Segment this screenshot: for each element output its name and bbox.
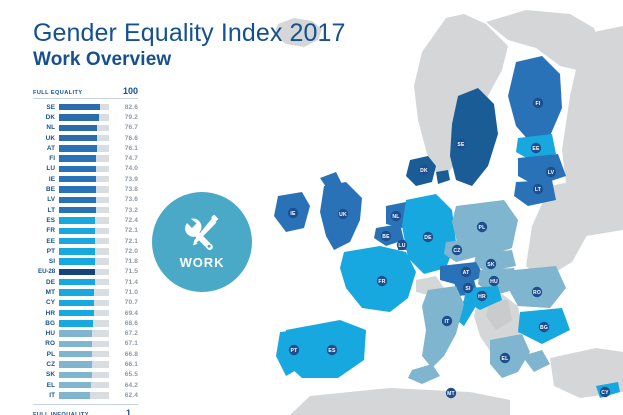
bar-fill <box>59 238 95 244</box>
bar-track <box>59 300 109 306</box>
bar-track <box>59 228 109 234</box>
bar-track <box>59 166 109 172</box>
bar-value: 73.6 <box>109 196 138 203</box>
map-country-code: CY <box>601 390 609 396</box>
bar-value: 73.2 <box>109 207 138 214</box>
bar-track <box>59 217 109 223</box>
map-country-code: EE <box>532 146 540 152</box>
bar-fill <box>59 351 92 357</box>
bar-track <box>59 248 109 254</box>
bar-track <box>59 186 109 192</box>
bar-value: 70.7 <box>109 299 138 306</box>
bar-track <box>59 135 109 141</box>
bar-value: 71.4 <box>109 279 138 286</box>
map-country-code: IT <box>445 319 451 325</box>
bar-fill <box>59 341 92 347</box>
bar-row[interactable]: IE73.9 <box>33 174 138 184</box>
bar-row[interactable]: SE82.6 <box>33 102 138 112</box>
map-country-code: UK <box>339 212 347 218</box>
map-country-code: AT <box>463 270 471 276</box>
bar-fill <box>59 258 95 264</box>
bar-value: 65.5 <box>109 371 138 378</box>
bar-track <box>59 104 109 110</box>
bar-fill <box>59 330 92 336</box>
bar-country-code: PL <box>33 351 59 358</box>
bar-country-code: BE <box>33 186 59 193</box>
bar-row[interactable]: LU74.0 <box>33 164 138 174</box>
bar-value: 72.0 <box>109 248 138 255</box>
bar-row[interactable]: EE72.1 <box>33 236 138 246</box>
bar-value: 72.1 <box>109 238 138 245</box>
map-country-code: ES <box>328 348 336 354</box>
bar-track <box>59 258 109 264</box>
bar-value: 71.5 <box>109 268 138 275</box>
bar-row[interactable]: HR69.4 <box>33 308 138 318</box>
bar-row[interactable]: DE71.4 <box>33 277 138 287</box>
bar-row[interactable]: HU67.2 <box>33 329 138 339</box>
bar-value: 62.4 <box>109 392 138 399</box>
bar-country-code: EE <box>33 238 59 245</box>
bar-fill <box>59 197 96 203</box>
bar-fill <box>59 207 95 213</box>
bar-track <box>59 392 109 398</box>
bar-value: 79.2 <box>109 114 138 121</box>
bar-country-code: ES <box>33 217 59 224</box>
legend-full-equality: FULL EQUALITY 100 <box>33 86 138 99</box>
bar-country-code: HR <box>33 310 59 317</box>
bar-value: 76.7 <box>109 124 138 131</box>
bar-fill <box>59 155 96 161</box>
bar-row[interactable]: FR72.1 <box>33 226 138 236</box>
bar-value: 71.8 <box>109 258 138 265</box>
work-badge-label: WORK <box>180 255 225 270</box>
bar-country-code: SI <box>33 258 59 265</box>
title-main: Gender Equality Index 2017 <box>33 20 346 47</box>
bar-fill <box>59 186 96 192</box>
bar-track <box>59 289 109 295</box>
map-country-code: NL <box>392 214 399 220</box>
bar-fill <box>59 269 95 275</box>
map-country-code: SE <box>457 142 465 148</box>
bar-track <box>59 351 109 357</box>
bar-row[interactable]: PL66.8 <box>33 349 138 359</box>
map-country-code: HU <box>490 279 498 285</box>
map-country-code: SK <box>487 262 495 268</box>
bar-track <box>59 114 109 120</box>
bar-country-code: IT <box>33 392 59 399</box>
bar-row[interactable]: LV73.6 <box>33 195 138 205</box>
bar-track <box>59 382 109 388</box>
infographic-root: IEUKFRPTESNLBELUDEDKSEFIEELVLTPLCZSKATHU… <box>0 0 623 415</box>
legend-full-inequality: FULL INEQUALITY 1 <box>33 404 138 415</box>
bar-fill <box>59 176 96 182</box>
bar-value: 76.6 <box>109 135 138 142</box>
bar-value: 72.1 <box>109 227 138 234</box>
map-country-code: BE <box>382 234 390 240</box>
map-country-code: EL <box>502 356 509 362</box>
page-title: Gender Equality Index 2017 Work Overview <box>33 20 346 70</box>
bar-row[interactable]: AT76.1 <box>33 143 138 153</box>
bar-row[interactable]: EU-2871.5 <box>33 267 138 277</box>
bar-country-code: IE <box>33 176 59 183</box>
bar-country-code: SE <box>33 104 59 111</box>
bar-value: 68.6 <box>109 320 138 327</box>
bar-track <box>59 238 109 244</box>
bar-fill <box>59 248 95 254</box>
bar-row[interactable]: FI74.7 <box>33 153 138 163</box>
map-country-code: LV <box>548 170 555 176</box>
bar-value: 72.4 <box>109 217 138 224</box>
bar-country-code: NL <box>33 124 59 131</box>
legend-full-inequality-value: 1 <box>126 408 138 415</box>
bar-fill <box>59 114 98 120</box>
bar-country-code: LU <box>33 165 59 172</box>
bar-country-code: CY <box>33 299 59 306</box>
bar-country-code: PT <box>33 248 59 255</box>
bar-track <box>59 341 109 347</box>
map-country-code: HR <box>478 294 486 300</box>
bar-country-code: RO <box>33 340 59 347</box>
bar-fill <box>59 289 94 295</box>
bar-country-code: EU-28 <box>33 268 59 275</box>
map-country-code: MT <box>447 391 455 397</box>
bar-fill <box>59 300 94 306</box>
bar-country-code: AT <box>33 145 59 152</box>
bar-value: 67.1 <box>109 340 138 347</box>
bar-value: 74.7 <box>109 155 138 162</box>
bar-row[interactable]: LT73.2 <box>33 205 138 215</box>
bar-value: 69.4 <box>109 310 138 317</box>
bar-list: SE82.6DK79.2NL76.7UK76.6AT76.1FI74.7LU74… <box>33 102 138 401</box>
bar-country-code: LT <box>33 207 59 214</box>
bar-fill <box>59 361 92 367</box>
bar-value: 73.9 <box>109 176 138 183</box>
map-country-code: LT <box>535 187 542 193</box>
map-country-code: DK <box>420 168 428 174</box>
map-country-code: IE <box>290 211 296 217</box>
bar-row[interactable]: BG68.6 <box>33 318 138 328</box>
bar-country-code: UK <box>33 135 59 142</box>
bar-row[interactable]: IT62.4 <box>33 390 138 400</box>
bar-track <box>59 279 109 285</box>
bar-row[interactable]: NL76.7 <box>33 123 138 133</box>
bar-value: 67.2 <box>109 330 138 337</box>
work-domain-badge[interactable]: WORK <box>152 192 252 292</box>
bar-value: 66.1 <box>109 361 138 368</box>
bar-track <box>59 145 109 151</box>
bar-row[interactable]: CY70.7 <box>33 298 138 308</box>
map-country-code: FR <box>378 279 385 285</box>
bar-fill <box>59 279 95 285</box>
bar-fill <box>59 320 93 326</box>
bar-track <box>59 269 109 275</box>
map-country-code: SI <box>465 286 471 292</box>
bar-row[interactable]: RO67.1 <box>33 339 138 349</box>
map-country-code: DE <box>424 235 432 241</box>
bar-country-code: MT <box>33 289 59 296</box>
bar-track <box>59 125 109 131</box>
bar-row[interactable]: SI71.8 <box>33 256 138 266</box>
bar-row[interactable]: EL64.2 <box>33 380 138 390</box>
bar-country-code: CZ <box>33 361 59 368</box>
bar-value: 82.6 <box>109 104 138 111</box>
bar-row[interactable]: ES72.4 <box>33 215 138 225</box>
bar-row[interactable]: SK65.5 <box>33 370 138 380</box>
bar-country-code: DK <box>33 114 59 121</box>
bar-track <box>59 197 109 203</box>
legend-full-equality-label: FULL EQUALITY <box>33 90 82 96</box>
bar-country-code: SK <box>33 371 59 378</box>
country-ranking-chart: FULL EQUALITY 100 SE82.6DK79.2NL76.7UK76… <box>33 86 138 415</box>
bar-country-code: EL <box>33 382 59 389</box>
bar-value: 66.8 <box>109 351 138 358</box>
title-subtitle: Work Overview <box>33 49 346 71</box>
bar-row[interactable]: MT71.0 <box>33 287 138 297</box>
bar-fill <box>59 135 97 141</box>
map-country-code: PT <box>291 348 299 354</box>
bar-value: 71.0 <box>109 289 138 296</box>
bar-fill <box>59 166 96 172</box>
bar-fill <box>59 104 100 110</box>
bar-row[interactable]: UK76.6 <box>33 133 138 143</box>
bar-fill <box>59 217 95 223</box>
bar-row[interactable]: PT72.0 <box>33 246 138 256</box>
bar-country-code: BG <box>33 320 59 327</box>
bar-track <box>59 361 109 367</box>
bar-value: 64.2 <box>109 382 138 389</box>
bar-fill <box>59 125 97 131</box>
bar-country-code: HU <box>33 330 59 337</box>
bar-value: 74.0 <box>109 165 138 172</box>
bar-country-code: LV <box>33 196 59 203</box>
wrench-pencil-icon <box>179 214 225 254</box>
legend-full-equality-value: 100 <box>123 86 138 96</box>
bar-value: 73.8 <box>109 186 138 193</box>
bar-fill <box>59 382 91 388</box>
map-country-code: BG <box>540 325 548 331</box>
bar-row[interactable]: CZ66.1 <box>33 359 138 369</box>
bar-row[interactable]: DK79.2 <box>33 112 138 122</box>
bar-track <box>59 207 109 213</box>
map-country-code: PL <box>479 225 486 231</box>
map-country-code: CZ <box>453 248 460 254</box>
bar-row[interactable]: BE73.8 <box>33 184 138 194</box>
bar-fill <box>59 310 94 316</box>
map-country-code: LU <box>398 243 405 249</box>
bar-country-code: FR <box>33 227 59 234</box>
bar-track <box>59 320 109 326</box>
bar-country-code: DE <box>33 279 59 286</box>
bar-fill <box>59 392 90 398</box>
map-country-code: RO <box>533 290 541 296</box>
legend-full-inequality-label: FULL INEQUALITY <box>33 412 89 415</box>
bar-value: 76.1 <box>109 145 138 152</box>
bar-fill <box>59 228 95 234</box>
bar-country-code: FI <box>33 155 59 162</box>
map-country-code: FI <box>536 101 541 107</box>
bar-track <box>59 155 109 161</box>
bar-fill <box>59 372 92 378</box>
bar-track <box>59 372 109 378</box>
bar-track <box>59 176 109 182</box>
bar-track <box>59 330 109 336</box>
bar-track <box>59 310 109 316</box>
bar-fill <box>59 145 97 151</box>
